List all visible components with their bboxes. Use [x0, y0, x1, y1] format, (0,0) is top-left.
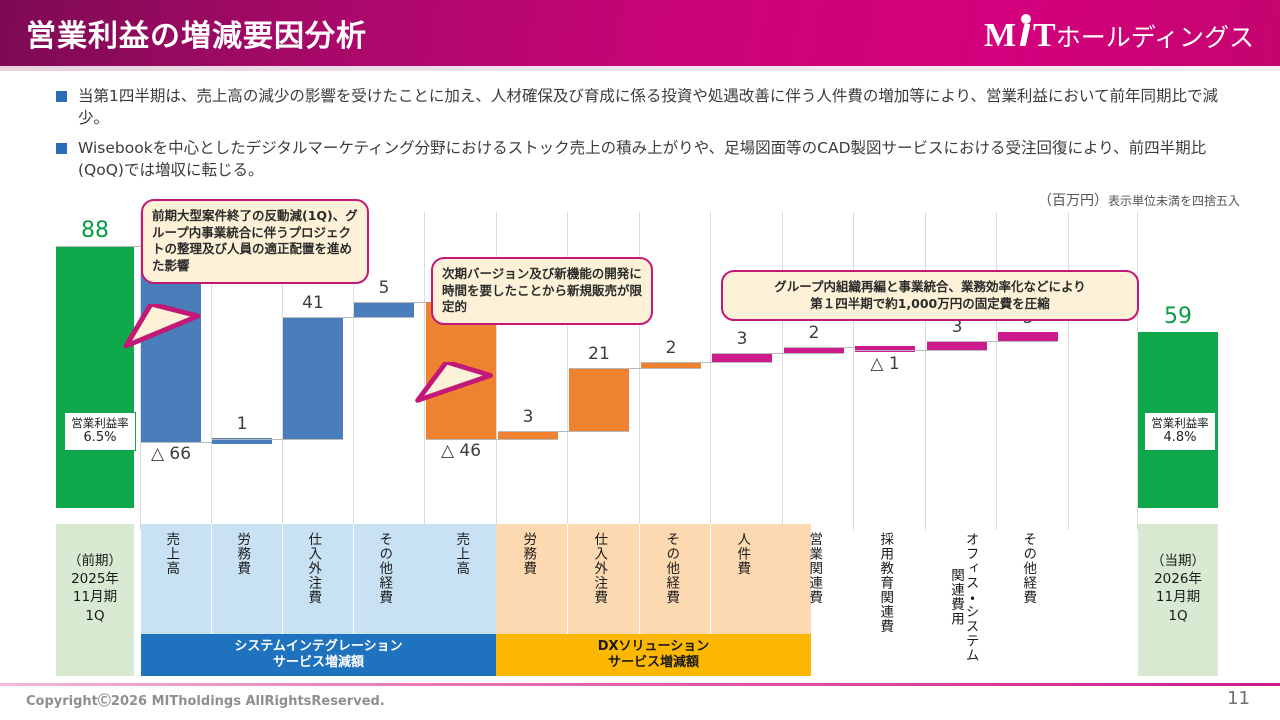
- chart-bar: [927, 341, 987, 350]
- margin-badge-label: 営業利益率: [1149, 416, 1211, 430]
- category-label-text: 売上高: [164, 532, 179, 576]
- category-label: 売上高: [426, 532, 496, 579]
- category-label-col2: 関連費用: [948, 532, 963, 663]
- footer-divider: [0, 683, 1280, 686]
- group-band-line1: システムインテグレーション: [234, 639, 402, 655]
- callout-pointer: [406, 362, 506, 410]
- callout-line: 第１四半期で約1,000万円の固定費を圧縮: [732, 296, 1128, 313]
- logo-i-dot: [1021, 14, 1031, 24]
- period-label-line: 1Q: [1138, 607, 1218, 625]
- chart-connector: [426, 439, 558, 440]
- category-label-text: その他経費: [1021, 532, 1036, 605]
- rounding-note: 表示単位未満を四捨五入: [1108, 194, 1240, 208]
- callout-line: グループ内組織再編と事業統合、業務効率化などにより: [732, 279, 1128, 296]
- category-label-text: その他経費: [664, 532, 679, 605]
- operating-margin-badge: 営業利益率6.5%: [64, 412, 136, 451]
- chart-bar: [569, 368, 629, 431]
- chart-bar: [354, 302, 414, 317]
- category-label: 営業関連費: [784, 532, 844, 608]
- group-band-line2: サービス増減額: [234, 655, 402, 671]
- chart-bar: [712, 353, 772, 362]
- period-label-line: 2026年: [1138, 570, 1218, 588]
- unit-value: （百万円）: [1038, 193, 1108, 209]
- callout-si-sales: 前期大型案件終了の反動減(1Q)、グループ内事業統合に伴うプロジェクトの整理及び…: [141, 199, 369, 284]
- category-label-text: 採用教育関連費: [878, 532, 893, 634]
- chart-bar: [283, 317, 343, 439]
- category-label-col1: オフィス・システム: [963, 532, 978, 663]
- bullet-item: 当第1四半期は、売上高の減少の影響を受けたことに加え、人材確保及び育成に係る投資…: [56, 85, 1236, 129]
- chart-gridline: [1068, 212, 1069, 530]
- chart-gridline: [996, 212, 997, 530]
- category-label-text: 仕入外注費: [592, 532, 607, 605]
- category-label-text: 営業関連費: [807, 532, 822, 605]
- logo-kana: ホールディングス: [1056, 18, 1254, 54]
- group-band-si: システムインテグレーションサービス増減額: [141, 634, 496, 676]
- period-label-line: （当期）: [1138, 552, 1218, 570]
- category-label-text: 仕入外注費: [306, 532, 321, 605]
- logo-i-stem: [1020, 24, 1031, 46]
- category-label-text: 人件費: [735, 532, 750, 576]
- page-number: 11: [1227, 688, 1250, 709]
- group-band-line1: DXソリューション: [598, 639, 710, 655]
- margin-badge-value: 6.5%: [69, 430, 131, 446]
- callout-fixed-cost: グループ内組織再編と事業統合、業務効率化などにより第１四半期で約1,000万円の…: [721, 270, 1139, 321]
- bullet-text: 当第1四半期は、売上高の減少の影響を受けたことに加え、人材確保及び育成に係る投資…: [78, 85, 1236, 129]
- category-label-prev-period: （前期）2025年11月期1Q: [56, 552, 134, 625]
- category-label-current-period: （当期）2026年11月期1Q: [1138, 552, 1218, 625]
- category-label: 仕入外注費: [283, 532, 343, 608]
- bullet-text: Wisebookを中心としたデジタルマーケティング分野におけるストック売上の積み…: [78, 137, 1236, 181]
- brand-logo: M T ホールディングス: [984, 12, 1254, 55]
- category-divider: [710, 524, 711, 634]
- chart-connector: [283, 317, 414, 318]
- chart-gridline: [782, 212, 783, 530]
- category-label: その他経費: [354, 532, 414, 608]
- chart-connector: [212, 439, 343, 440]
- group-band-line2: サービス増減額: [598, 655, 710, 671]
- chart-value-label: △ 46: [406, 441, 516, 461]
- group-band-dx: DXソリューションサービス増減額: [496, 634, 811, 676]
- margin-badge-value: 4.8%: [1149, 430, 1211, 446]
- period-label-line: 11月期: [56, 588, 134, 606]
- chart-connector: [855, 350, 987, 351]
- logo-letter-i-icon: [1016, 12, 1033, 46]
- chart-gridline: [710, 212, 711, 530]
- category-label-text: 売上高: [454, 532, 469, 576]
- unit-note: （百万円）表示単位未満を四捨五入: [1038, 190, 1240, 210]
- chart-connector: [569, 368, 701, 369]
- callout-line: 前期大型案件終了の反動減(1Q)、グループ内事業統合に伴うプロジェクトの整理及び…: [152, 208, 358, 275]
- chart-value-label: 1: [192, 414, 292, 434]
- period-label-line: 2025年: [56, 570, 134, 588]
- category-label: 採用教育関連費: [855, 532, 915, 637]
- chart-connector: [641, 362, 772, 363]
- category-label: 人件費: [712, 532, 772, 579]
- chart-connector: [712, 353, 844, 354]
- page-title: 営業利益の増減要因分析: [26, 11, 367, 55]
- chart-connector: [498, 431, 629, 432]
- callout-pointer: [116, 304, 216, 354]
- category-label: 労務費: [212, 532, 272, 579]
- slide-header: 営業利益の増減要因分析 M T ホールディングス: [0, 0, 1280, 66]
- logo-letter-t: T: [1033, 17, 1056, 55]
- category-divider: [567, 524, 568, 634]
- category-label: オフィス・システム関連費用: [927, 532, 999, 663]
- chart-value-label: 2: [764, 323, 864, 343]
- bullet-item: Wisebookを中心としたデジタルマーケティング分野におけるストック売上の積み…: [56, 137, 1236, 181]
- chart-bar: [498, 431, 558, 440]
- chart-value-label: 88: [36, 218, 154, 243]
- bullet-square-icon: [56, 91, 67, 102]
- category-label-text: その他経費: [377, 532, 392, 605]
- bullet-square-icon: [56, 143, 67, 154]
- chart-value-label: △ 66: [121, 444, 221, 464]
- category-label-text: 労務費: [521, 532, 536, 576]
- chart-plot-area: 88△ 661415△ 46321232△ 13359営業利益率6.5%営業利益…: [56, 212, 1224, 530]
- category-label: 売上高: [141, 532, 201, 579]
- category-divider: [639, 524, 640, 634]
- logo-letter-m: M: [984, 17, 1016, 55]
- margin-badge-label: 営業利益率: [69, 416, 131, 430]
- period-label-line: 1Q: [56, 607, 134, 625]
- chart-value-label: △ 1: [835, 354, 935, 374]
- header-underline: [0, 66, 1280, 71]
- copyright-text: CopyrightⒸ2026 MITholdings AllRightsRese…: [26, 690, 385, 709]
- operating-margin-badge: 営業利益率4.8%: [1144, 412, 1216, 451]
- category-label: 労務費: [498, 532, 558, 579]
- category-label-text: 労務費: [235, 532, 250, 576]
- chart-bar: [56, 246, 134, 508]
- period-label-line: 11月期: [1138, 588, 1218, 606]
- callout-dx-sales: 次期バージョン及び新機能の開発に時間を要したことから新規販売が限定的: [431, 257, 653, 325]
- category-label: 仕入外注費: [569, 532, 629, 608]
- category-label: その他経費: [641, 532, 701, 608]
- bullet-list: 当第1四半期は、売上高の減少の影響を受けたことに加え、人材確保及び育成に係る投資…: [56, 85, 1236, 189]
- chart-category-band: システムインテグレーションサービス増減額DXソリューションサービス増減額（前期）…: [56, 524, 1224, 676]
- period-label-line: （前期）: [56, 552, 134, 570]
- category-label: その他経費: [998, 532, 1058, 608]
- callout-line: 次期バージョン及び新機能の開発に時間を要したことから新規販売が限定的: [442, 266, 642, 316]
- chart-bar: [998, 332, 1058, 341]
- chart-connector: [927, 341, 1058, 342]
- waterfall-chart: 88△ 661415△ 46321232△ 13359営業利益率6.5%営業利益…: [56, 212, 1224, 530]
